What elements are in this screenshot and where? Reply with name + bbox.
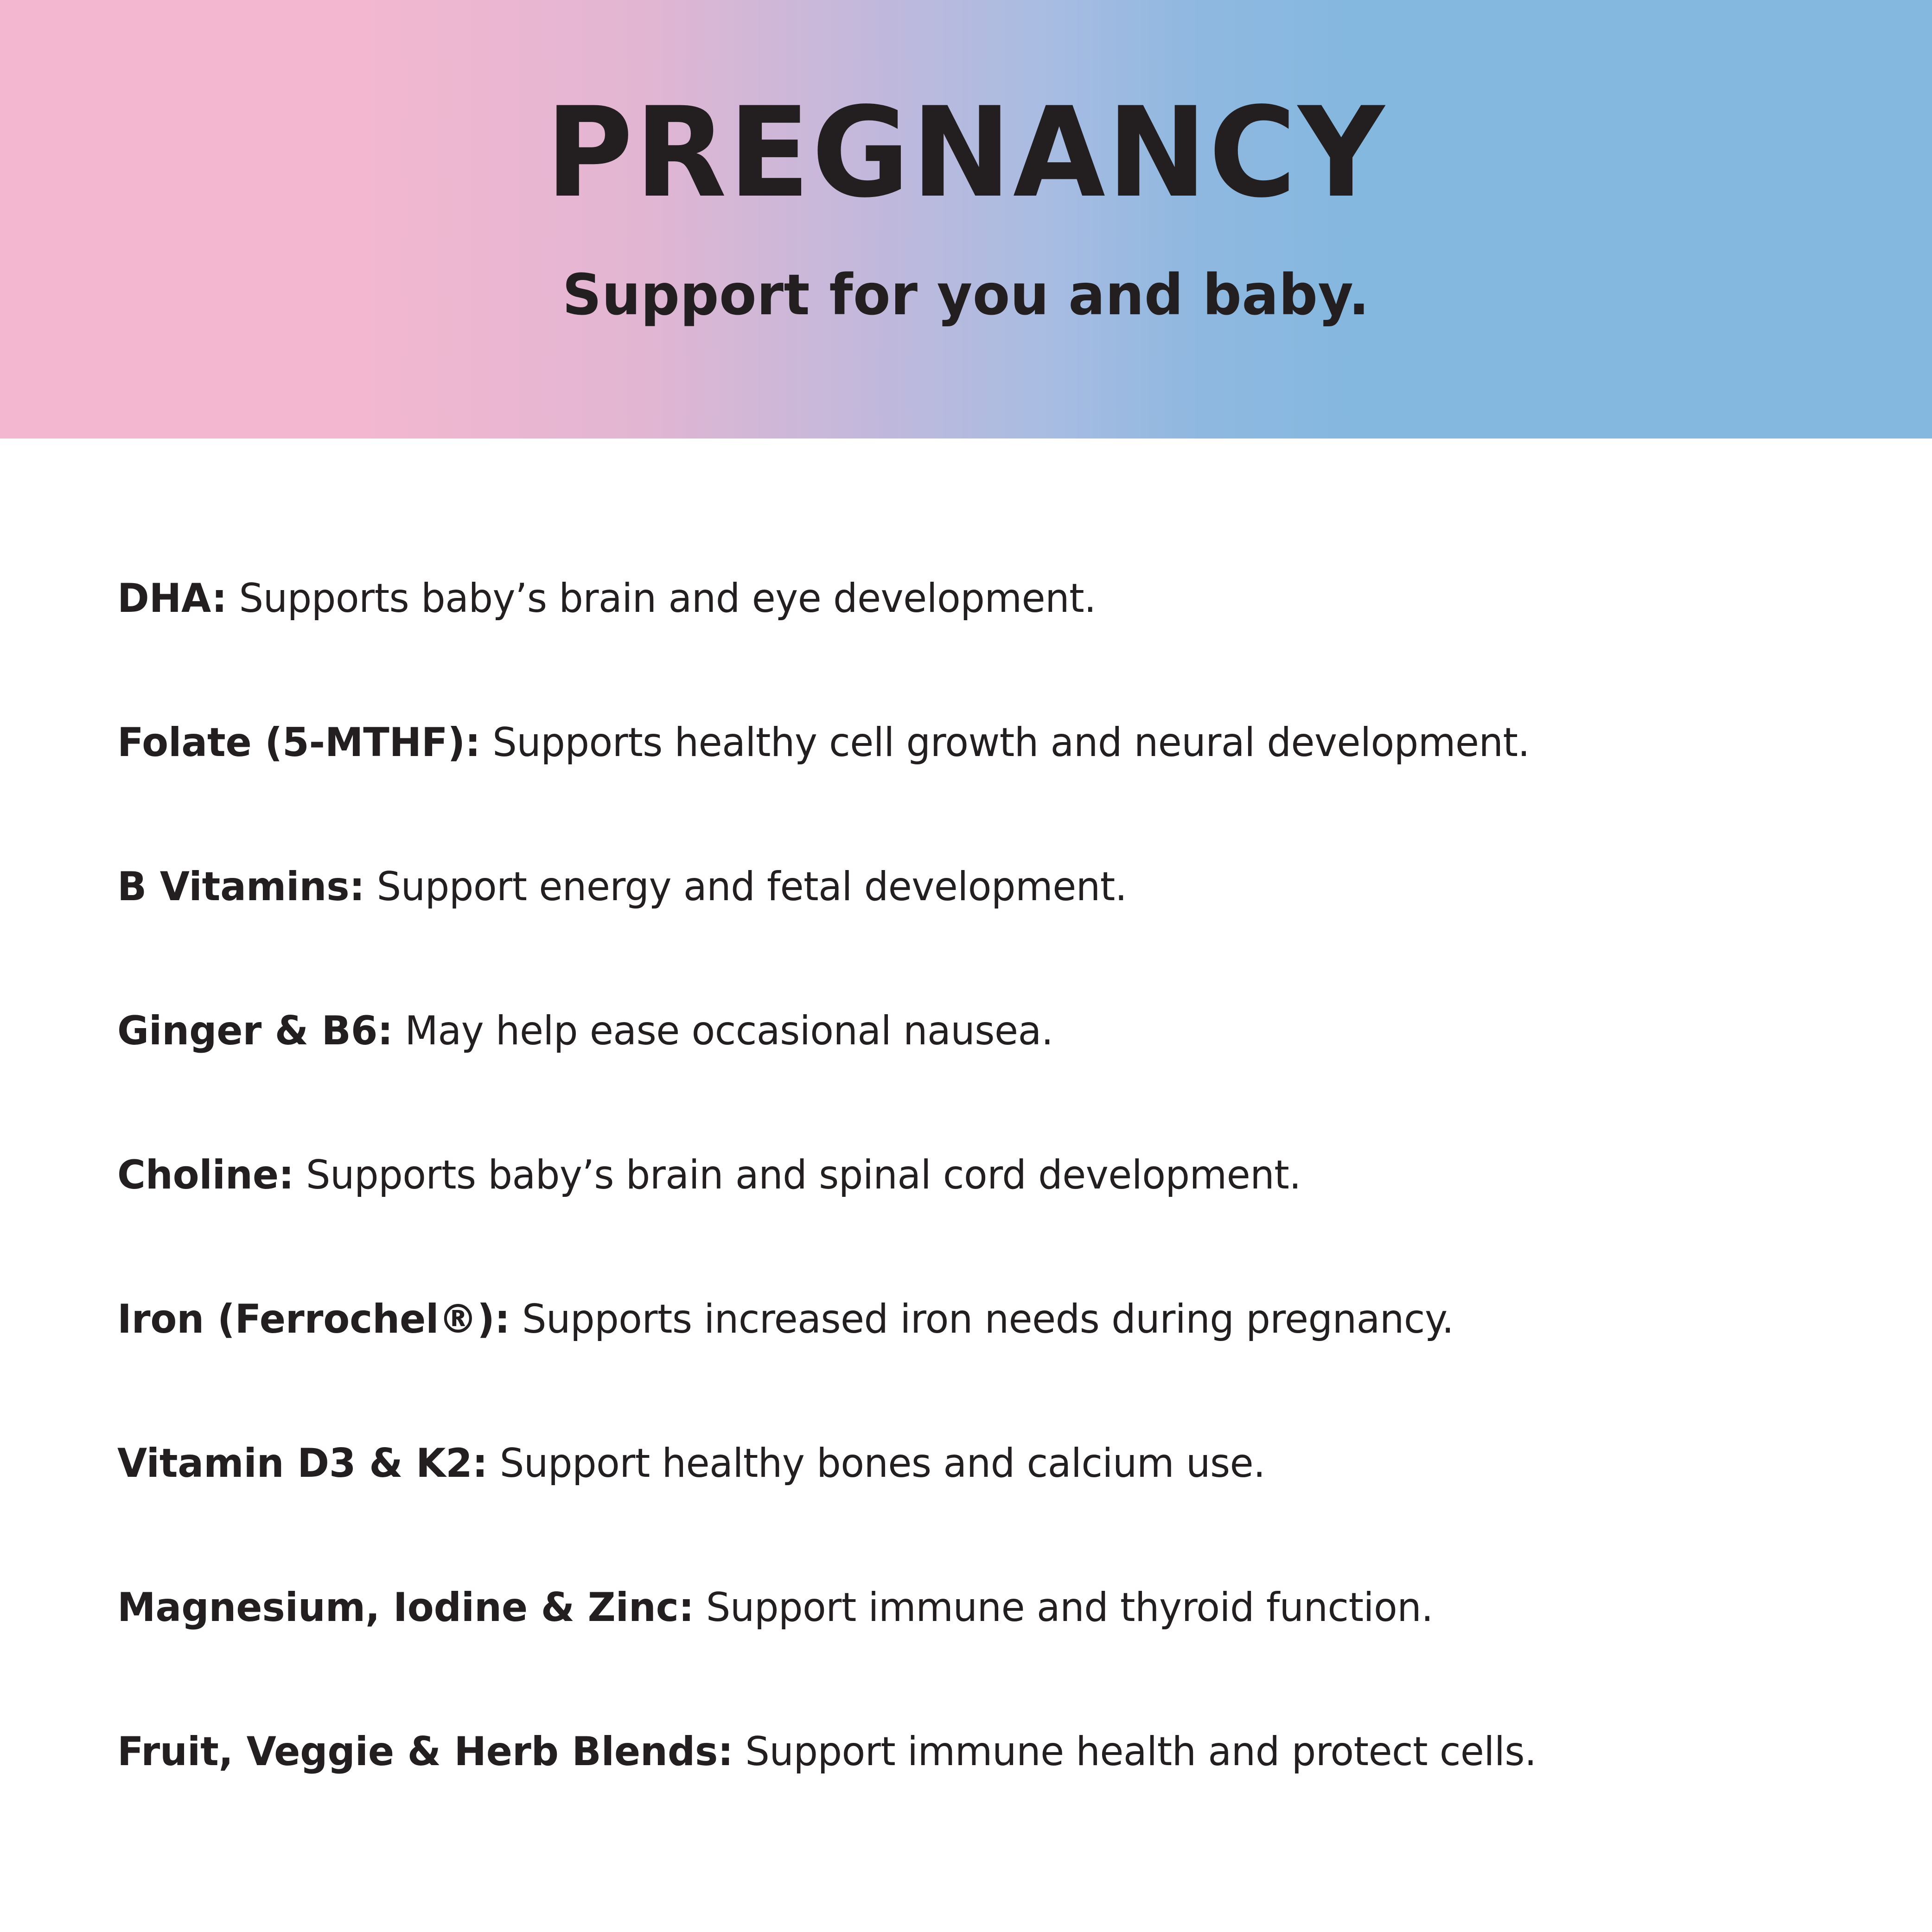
list-item: Iron (Ferrochel®): Supports increased ir… (117, 1299, 1773, 1339)
list-item: Choline: Supports baby’s brain and spina… (117, 1155, 1773, 1195)
benefit-term: DHA: (117, 575, 227, 622)
list-item: Vitamin D3 & K2: Support healthy bones a… (117, 1443, 1773, 1483)
benefit-description: Supports baby’s brain and eye developmen… (239, 575, 1096, 622)
benefit-description: Support energy and fetal development. (377, 864, 1127, 910)
page-subtitle: Support for you and baby. (562, 267, 1370, 323)
benefit-description: Supports increased iron needs during pre… (522, 1296, 1454, 1342)
list-item: DHA: Supports baby’s brain and eye devel… (117, 578, 1773, 618)
benefit-description: Support immune and thyroid function. (706, 1584, 1433, 1631)
benefits-list: DHA: Supports baby’s brain and eye devel… (117, 578, 1833, 1772)
benefit-term: Folate (5-MTHF): (117, 719, 480, 766)
page-title: PREGNANCY (546, 91, 1386, 215)
benefit-term: Ginger & B6: (117, 1008, 393, 1054)
benefit-term: Choline: (117, 1152, 294, 1198)
benefit-description: May help ease occasional nausea. (405, 1008, 1053, 1054)
header-content: PREGNANCY Support for you and baby. (0, 0, 1932, 439)
benefit-term: Magnesium, Iodine & Zinc: (117, 1584, 694, 1631)
benefit-description: Supports healthy cell growth and neural … (492, 719, 1530, 766)
pregnancy-supplement-infographic: PREGNANCY Support for you and baby. DHA:… (0, 0, 1932, 1932)
benefit-term: Iron (Ferrochel®): (117, 1296, 510, 1342)
benefit-term: B Vitamins: (117, 864, 365, 910)
list-item: Ginger & B6: May help ease occasional na… (117, 1011, 1773, 1051)
list-item: Magnesium, Iodine & Zinc: Support immune… (117, 1588, 1773, 1627)
list-item: B Vitamins: Support energy and fetal dev… (117, 867, 1773, 907)
header-gradient-banner: PREGNANCY Support for you and baby. (0, 0, 1932, 439)
benefit-description: Support healthy bones and calcium use. (500, 1440, 1265, 1487)
list-item: Folate (5-MTHF): Supports healthy cell g… (117, 723, 1773, 763)
list-item: Fruit, Veggie & Herb Blends: Support imm… (117, 1732, 1773, 1772)
benefit-description: Supports baby’s brain and spinal cord de… (306, 1152, 1301, 1198)
benefit-term: Vitamin D3 & K2: (117, 1440, 488, 1487)
benefit-term: Fruit, Veggie & Herb Blends: (117, 1729, 733, 1775)
benefit-description: Support immune health and protect cells. (745, 1729, 1537, 1775)
